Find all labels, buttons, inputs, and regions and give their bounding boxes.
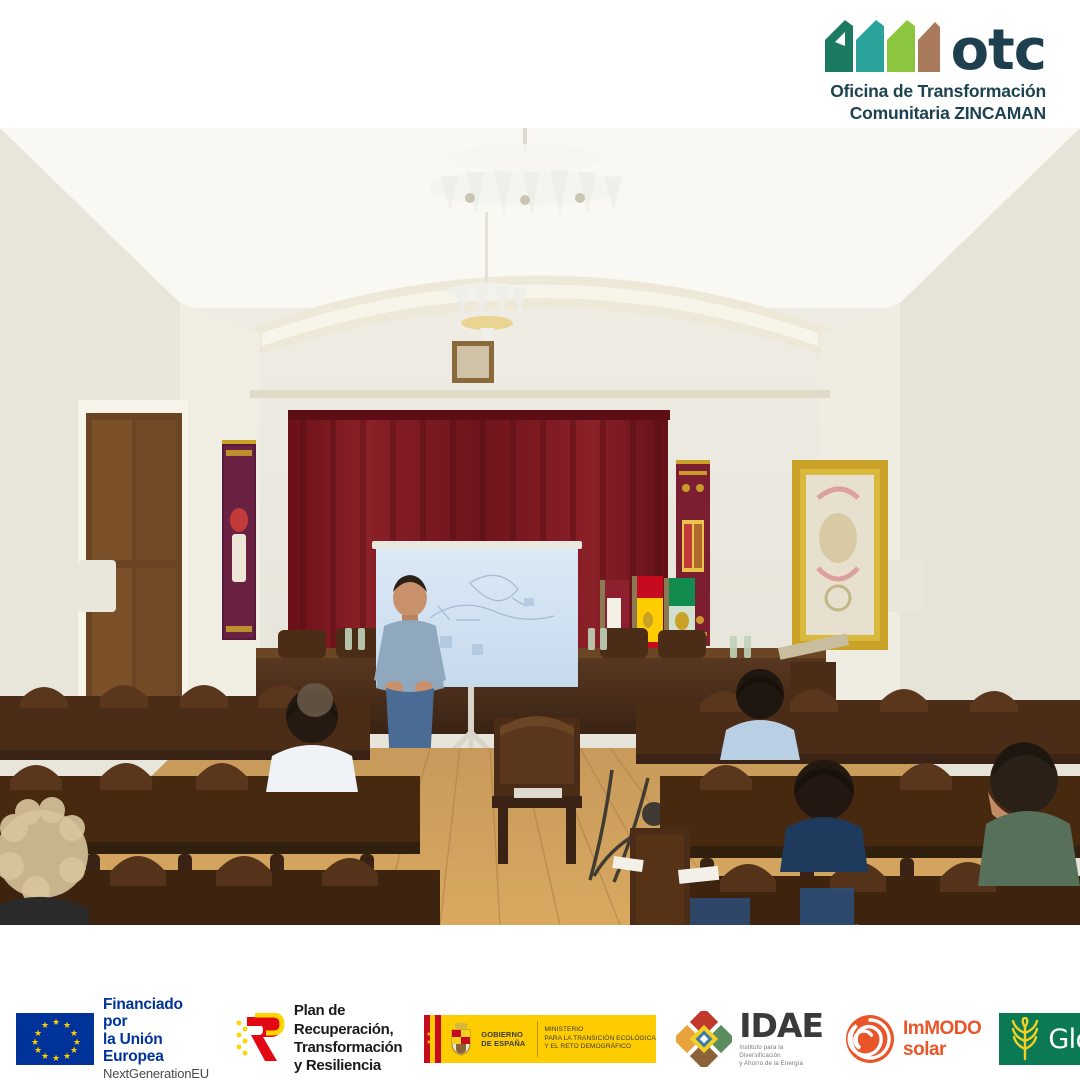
otc-logo: otc Oficina de Transformación Comunitari… bbox=[823, 16, 1046, 125]
prtr-text-block: Plan de Recuperación, Transformación y R… bbox=[294, 1002, 402, 1075]
idae-wordmark: IDAE bbox=[739, 1010, 823, 1041]
cuadro-enmarcado-dorado bbox=[792, 460, 888, 650]
ministerio-line3: Y EL RETO DEMOGRÁFICO bbox=[544, 1043, 655, 1052]
prtr-line1: Plan de Recuperación, bbox=[294, 1002, 402, 1039]
eu-line2: la Unión Europea bbox=[103, 1031, 209, 1066]
otc-logo-mark-row: otc bbox=[823, 16, 1046, 74]
otc-subtitle: Oficina de Transformación Comunitaria ZI… bbox=[830, 81, 1046, 125]
otc-subtitle-comunitaria: Comunitaria bbox=[850, 103, 955, 123]
prtr-line2: Transformación y Resiliencia bbox=[294, 1039, 402, 1076]
spain-flag-stripe-icon: ★ ★ bbox=[424, 1015, 441, 1063]
ministerio-line2: PARA LA TRANSICIÓN ECOLÓGICA bbox=[544, 1035, 655, 1044]
sponsor-plan-recuperacion: Plan de Recuperación, Transformación y R… bbox=[231, 1002, 402, 1075]
otc-wordmark: otc bbox=[951, 28, 1046, 74]
banner-heraldico-izquierdo bbox=[222, 440, 256, 640]
idae-subtitle: Instituto para la Diversificación y Ahor… bbox=[739, 1044, 823, 1068]
globalcaja-wordmark: Globalcaja bbox=[1048, 1024, 1080, 1055]
gobierno-line2: DE ESPAÑA bbox=[481, 1039, 525, 1048]
idae-text-block: IDAE Instituto para la Diversificación y… bbox=[739, 1010, 823, 1068]
globalcaja-wheat-icon bbox=[1005, 1017, 1045, 1061]
gobierno-line1: GOBIERNO bbox=[481, 1030, 525, 1039]
immodo-line2: solar bbox=[903, 1039, 981, 1060]
sponsor-idae: IDAE Instituto para la Diversificación y… bbox=[676, 1010, 823, 1068]
idae-sub-line1: Instituto para la Diversificación bbox=[739, 1044, 823, 1060]
otc-subtitle-line1: Oficina de Transformación bbox=[830, 81, 1046, 103]
otc-subtitle-zincaman: ZINCAMAN bbox=[954, 103, 1046, 123]
sponsor-immodo-solar: ImMODO solar bbox=[845, 1014, 981, 1064]
ministerio-line1: MINISTERIO bbox=[544, 1026, 655, 1035]
poster-page: otc Oficina de Transformación Comunitari… bbox=[0, 0, 1080, 1080]
immodo-text-block: ImMODO solar bbox=[903, 1018, 981, 1061]
speaker-right bbox=[886, 560, 924, 612]
otc-subtitle-line2: Comunitaria ZINCAMAN bbox=[830, 103, 1046, 125]
spain-coat-of-arms-icon bbox=[441, 1015, 481, 1063]
eu-flag-icon: ★ ★ ★ ★ ★ ★ ★ ★ ★ ★ ★ ★ bbox=[16, 1013, 94, 1065]
prtr-logo-icon bbox=[231, 1013, 285, 1065]
immodo-line1: ImMODO bbox=[903, 1018, 981, 1039]
sponsor-globalcaja: Globalcaja bbox=[999, 1013, 1080, 1065]
sponsor-gobierno-espana: ★ ★ GOBIERNO DE ESPAÑA M bbox=[424, 1015, 656, 1063]
gobierno-text: GOBIERNO DE ESPAÑA bbox=[481, 1015, 531, 1063]
conference-room-photo bbox=[0, 128, 1080, 925]
gobierno-divider bbox=[537, 1021, 538, 1057]
eu-line1: Financiado por bbox=[103, 996, 209, 1031]
immodo-spiral-icon bbox=[845, 1014, 895, 1064]
otc-roof-icon bbox=[823, 16, 941, 74]
speaker-left bbox=[78, 560, 116, 612]
sponsor-bar: ★ ★ ★ ★ ★ ★ ★ ★ ★ ★ ★ ★ Financiado por l… bbox=[0, 1003, 1080, 1075]
eu-text-block: Financiado por la Unión Europea NextGene… bbox=[103, 996, 209, 1080]
header-bar: otc Oficina de Transformación Comunitari… bbox=[0, 0, 1080, 128]
ministerio-text: MINISTERIO PARA LA TRANSICIÓN ECOLÓGICA … bbox=[544, 1015, 655, 1063]
photo-illustration bbox=[0, 128, 1080, 925]
idae-logo-icon bbox=[676, 1011, 732, 1067]
idae-sub-line2: y Ahorro de la Energía bbox=[739, 1060, 823, 1068]
sponsor-union-europea: ★ ★ ★ ★ ★ ★ ★ ★ ★ ★ ★ ★ Financiado por l… bbox=[16, 996, 209, 1080]
eu-line3: NextGenerationEU bbox=[103, 1067, 209, 1080]
